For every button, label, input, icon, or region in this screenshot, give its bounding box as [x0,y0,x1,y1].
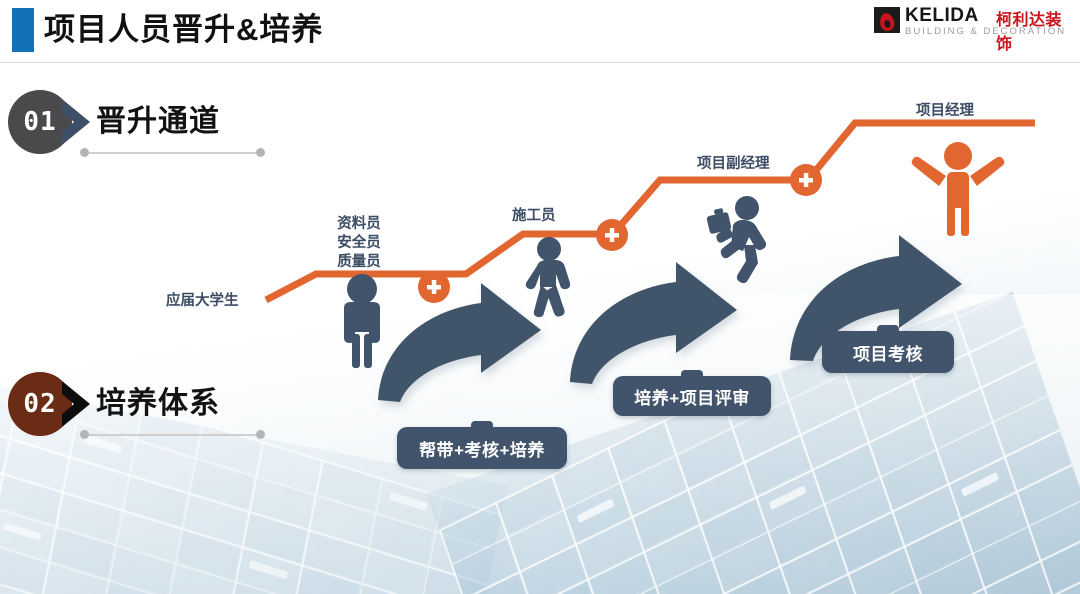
plus-icon-node-3 [790,164,822,196]
plus-icon-node-1 [418,271,450,303]
plus-icon-node-2 [596,219,628,251]
figure-standing-person [344,274,380,368]
slide-canvas: 项目人员晋升&培养 KELIDA 柯利达装饰 BUILDING & DECORA… [0,0,1080,594]
figure-celebrating-person [912,142,1005,236]
step-label-1-line-3: 质量员 [322,253,396,272]
figure-running-person-briefcase [706,196,766,283]
training-badge-1: 帮带+考核+培养 [397,427,567,469]
figure-walking-person [526,237,570,317]
training-badge-2: 培养+项目评审 [613,376,771,416]
step-label-2: 施工员 [512,207,556,226]
growth-arrow-2 [570,262,737,384]
career-ladder-graphic [0,0,1080,594]
step-label-1: 资料员 安全员 质量员 [322,215,396,272]
growth-arrow-1 [378,283,541,402]
step-label-1-line-1: 资料员 [322,215,396,234]
promotion-nodes [418,164,822,303]
step-label-3: 项目副经理 [697,155,770,174]
ladder-start-label: 应届大学生 [166,292,239,311]
step-label-4: 项目经理 [916,102,974,121]
training-badge-3: 项目考核 [822,331,954,373]
step-label-1-line-2: 安全员 [322,234,396,253]
